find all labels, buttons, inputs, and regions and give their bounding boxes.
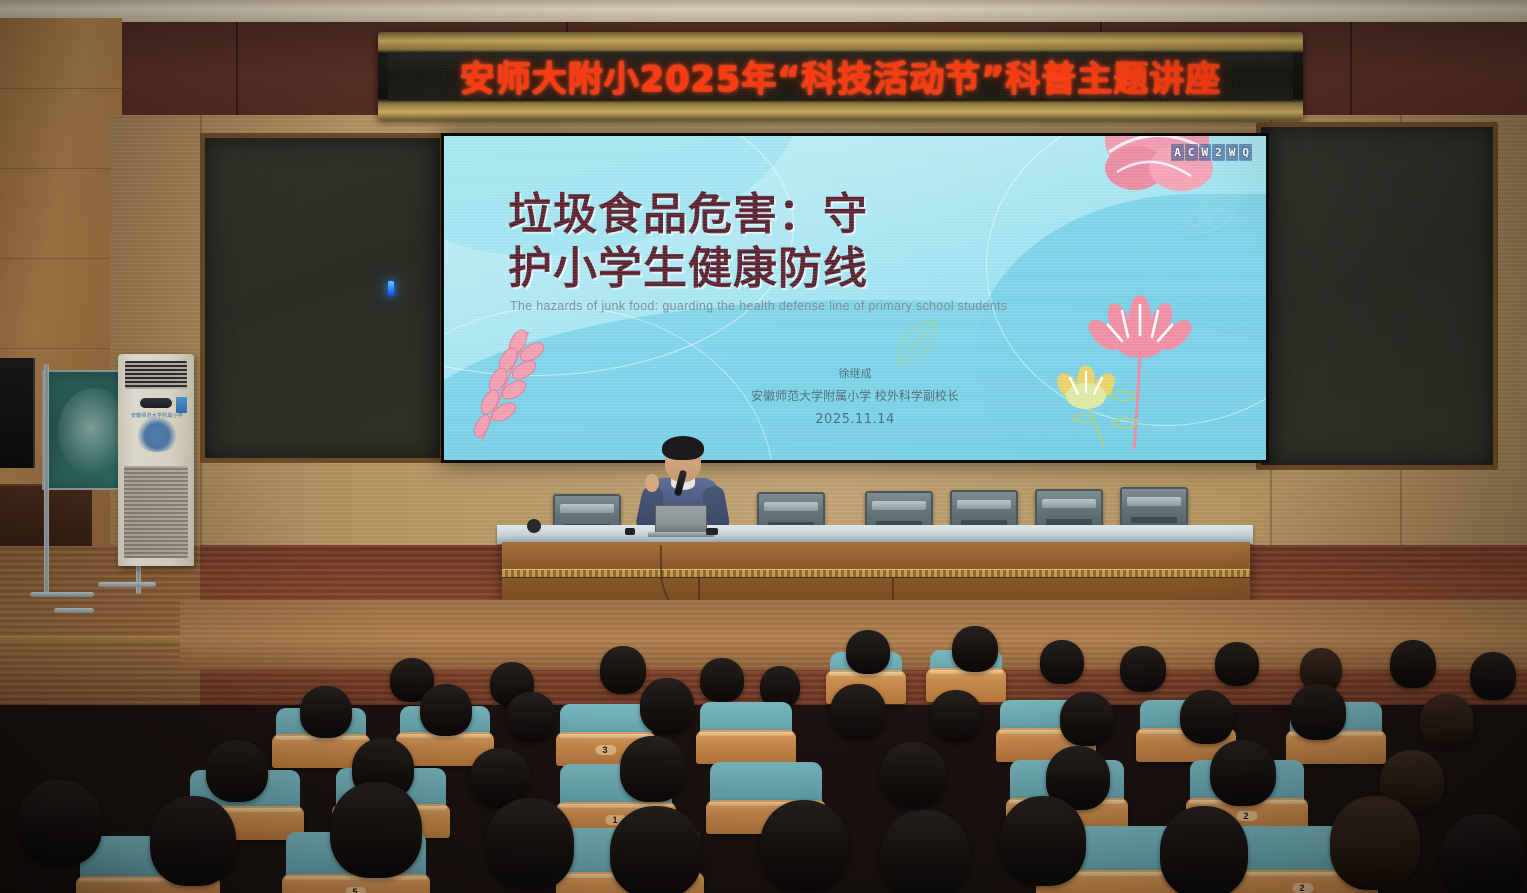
- student-head: [420, 684, 472, 736]
- watermark-char: W: [1226, 144, 1239, 161]
- student-head: [1120, 646, 1166, 692]
- leaf-outline-icon: [1180, 188, 1242, 240]
- wall-monitor: [0, 358, 35, 468]
- student-head: [18, 780, 102, 866]
- audience-seat[interactable]: [700, 702, 792, 748]
- leaf-green-icon: [892, 316, 940, 368]
- audience-area: 3 1: [0, 600, 1527, 893]
- projector-led-indicator-icon: [388, 281, 394, 296]
- table-gold-trim: [502, 569, 1250, 578]
- student-head: [846, 630, 890, 674]
- led-banner-screen: 安师大附小2025年“科技活动节”科普主题讲座: [388, 52, 1293, 101]
- desk-remote: [706, 528, 718, 535]
- laptop-base: [648, 532, 714, 537]
- student-head: [1000, 796, 1086, 886]
- presenter-hair: [662, 436, 704, 460]
- seat-number: 5: [345, 887, 366, 893]
- student-head: [330, 782, 422, 878]
- student-head: [1470, 652, 1516, 700]
- led-banner-text: 安师大附小2025年“科技活动节”科普主题讲座: [460, 52, 1221, 101]
- presentation-slide: 垃圾食品危害：守 护小学生健康防线 The hazards of junk fo…: [444, 136, 1266, 460]
- presenter-gesturing-hand: [645, 474, 659, 492]
- presenter-organization: 安徽师范大学附属小学 校外科学副校长: [444, 385, 1266, 408]
- laptop[interactable]: [655, 505, 707, 533]
- slide-title-line1: 垃圾食品危害：守: [508, 188, 1068, 242]
- slide-watermark: A C W 2 W Q: [1171, 144, 1252, 161]
- student-head: [952, 626, 998, 672]
- student-head: [760, 800, 848, 892]
- student-head: [700, 658, 744, 702]
- slide-title: 垃圾食品危害：守 护小学生健康防线: [508, 188, 1068, 295]
- seat-number: 3: [595, 745, 616, 755]
- student-head: [1180, 690, 1234, 744]
- student-head: [1420, 694, 1474, 748]
- student-head: [610, 806, 702, 893]
- slide-subtitle: The hazards of junk food: guarding the h…: [510, 297, 1010, 315]
- projection-screen: 垃圾食品危害：守 护小学生健康防线 The hazards of junk fo…: [441, 133, 1269, 463]
- student-head: [1440, 814, 1526, 893]
- floor-air-conditioner: 安徽师范大学附属小学: [118, 354, 194, 566]
- student-head: [1290, 684, 1346, 740]
- ac-display-panel[interactable]: [140, 398, 172, 408]
- desk-microphone-base: [527, 519, 541, 533]
- desk-small-object: [625, 528, 635, 535]
- right-dark-board: [1256, 122, 1498, 470]
- watermark-char: W: [1199, 144, 1212, 161]
- student-head: [830, 684, 886, 740]
- student-head: [506, 692, 556, 742]
- student-head: [1390, 640, 1436, 688]
- seat-number: 2: [1292, 883, 1313, 893]
- presenter-name: 徐继成: [444, 364, 1266, 385]
- ac-bottom-vent: [124, 466, 188, 558]
- student-head: [206, 740, 268, 802]
- watermark-char: Q: [1239, 144, 1252, 161]
- ac-energy-sticker: [176, 397, 187, 413]
- student-head: [1210, 740, 1276, 806]
- led-banner: 安师大附小2025年“科技活动节”科普主题讲座: [378, 32, 1303, 120]
- watermark-char: 2: [1212, 144, 1225, 161]
- ac-top-grille: [125, 361, 187, 389]
- student-head: [150, 796, 236, 886]
- left-dark-board: [200, 133, 445, 463]
- lecture-hall-photo: 安师大附小2025年“科技活动节”科普主题讲座: [0, 0, 1527, 893]
- watermark-char: C: [1185, 144, 1198, 161]
- student-head: [620, 736, 686, 802]
- student-head: [1040, 640, 1084, 684]
- presentation-date: 2025.11.14: [444, 408, 1266, 433]
- student-head: [600, 646, 646, 694]
- school-logo-icon: [132, 416, 182, 452]
- seat-number: 2: [1236, 811, 1257, 821]
- slide-byline: 徐继成 安徽师范大学附属小学 校外科学副校长 2025.11.14: [444, 364, 1266, 432]
- slide-title-line2: 护小学生健康防线: [508, 242, 1068, 296]
- student-head: [930, 690, 982, 742]
- student-head: [1215, 642, 1259, 686]
- student-head: [1330, 796, 1420, 890]
- student-head: [880, 742, 946, 808]
- student-head: [1060, 692, 1114, 746]
- student-head: [640, 678, 694, 734]
- student-head: [486, 798, 574, 890]
- student-head: [300, 686, 352, 738]
- ac-logo-text: 安徽师范大学附属小学: [124, 412, 190, 419]
- stage-chair: [1120, 487, 1188, 529]
- watermark-char: A: [1171, 144, 1184, 161]
- student-head: [1160, 806, 1248, 893]
- student-head: [880, 810, 970, 893]
